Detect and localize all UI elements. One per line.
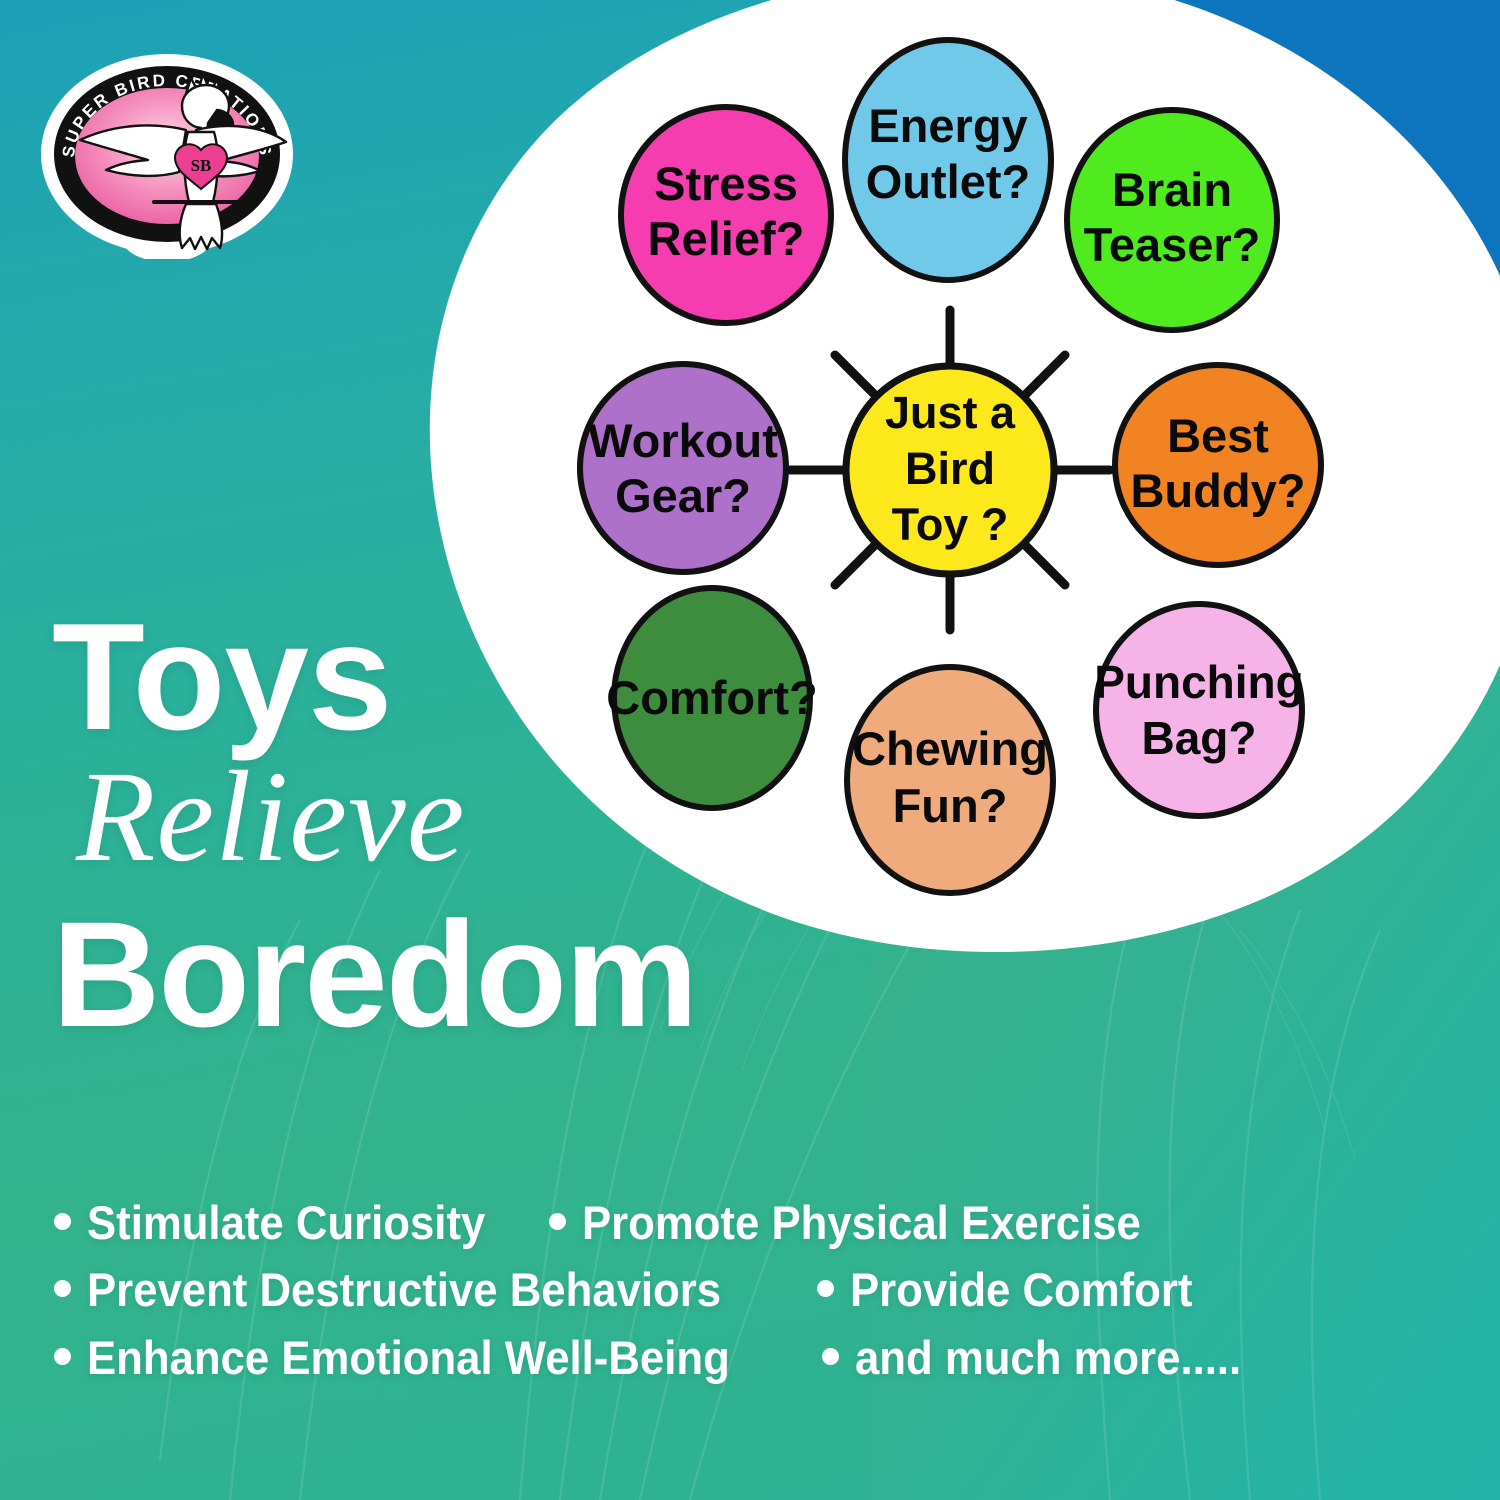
node-best-buddy[interactable]: Best Buddy? — [1115, 365, 1321, 565]
list-item: Enhance Emotional Well-Being — [54, 1333, 778, 1382]
node-center-line2: Bird — [905, 443, 995, 494]
node-center-line3: Toy ? — [892, 499, 1009, 550]
headline-block: Toys Relieve Boredom — [52, 608, 912, 1045]
node-brain-teaser-line1: Brain — [1112, 163, 1232, 216]
benefit-label: Prevent Destructive Behaviors — [87, 1265, 721, 1314]
list-item: Provide Comfort — [817, 1265, 1218, 1314]
node-best-buddy-line2: Buddy? — [1131, 464, 1306, 517]
node-workout-gear-line2: Gear? — [615, 469, 751, 522]
node-center-line1: Just a — [885, 387, 1016, 438]
node-energy-outlet-line2: Outlet? — [866, 155, 1030, 208]
list-item: Prevent Destructive Behaviors — [54, 1265, 769, 1314]
list-item: Stimulate Curiosity — [54, 1198, 515, 1247]
node-best-buddy-line1: Best — [1167, 409, 1269, 462]
node-brain-teaser-line2: Teaser? — [1084, 218, 1261, 271]
infographic-canvas: SUPER BIRD CREATIONS — [0, 0, 1500, 1500]
bullet-dot-icon — [54, 1213, 71, 1230]
headline-line-boredom: Boredom — [52, 904, 912, 1045]
list-item: and much more..... — [822, 1333, 1270, 1382]
node-energy-outlet[interactable]: Energy Outlet? — [845, 40, 1051, 280]
node-stress-relief-line2: Relief? — [648, 212, 805, 265]
node-punching-bag-line1: Punching — [1094, 656, 1304, 708]
logo-monogram: SB — [191, 156, 212, 175]
list-item: Promote Physical Exercise — [549, 1198, 1183, 1247]
benefit-label: Stimulate Curiosity — [87, 1198, 485, 1247]
headline-line-toys: Toys — [52, 608, 912, 748]
bullet-dot-icon — [549, 1213, 566, 1230]
node-stress-relief-line1: Stress — [654, 157, 798, 210]
brand-logo: SUPER BIRD CREATIONS — [36, 44, 298, 259]
node-punching-bag[interactable]: Punching Bag? — [1094, 604, 1304, 816]
bullet-dot-icon — [817, 1280, 834, 1297]
node-energy-outlet-line1: Energy — [868, 99, 1027, 152]
bullet-dot-icon — [54, 1280, 71, 1297]
node-stress-relief[interactable]: Stress Relief? — [621, 107, 831, 323]
benefits-row-1: Stimulate Curiosity Promote Physical Exe… — [54, 1198, 1454, 1247]
headline-line-relieve: Relieve — [76, 752, 912, 882]
benefit-label: Enhance Emotional Well-Being — [87, 1333, 730, 1382]
node-center-just-a-bird-toy[interactable]: Just a Bird Toy ? — [846, 366, 1054, 574]
node-punching-bag-line2: Bag? — [1142, 712, 1257, 764]
benefit-label: and much more..... — [855, 1333, 1241, 1382]
benefit-label: Provide Comfort — [850, 1265, 1192, 1314]
benefit-label: Promote Physical Exercise — [582, 1198, 1141, 1247]
benefits-row-3: Enhance Emotional Well-Being and much mo… — [54, 1333, 1454, 1382]
bullet-dot-icon — [822, 1348, 839, 1365]
node-workout-gear-line1: Workout — [588, 414, 778, 467]
bullet-dot-icon — [54, 1348, 71, 1365]
node-workout-gear[interactable]: Workout Gear? — [580, 364, 786, 572]
benefits-list: Stimulate Curiosity Promote Physical Exe… — [54, 1198, 1454, 1400]
node-brain-teaser[interactable]: Brain Teaser? — [1067, 110, 1277, 330]
benefits-row-2: Prevent Destructive Behaviors Provide Co… — [54, 1265, 1454, 1314]
